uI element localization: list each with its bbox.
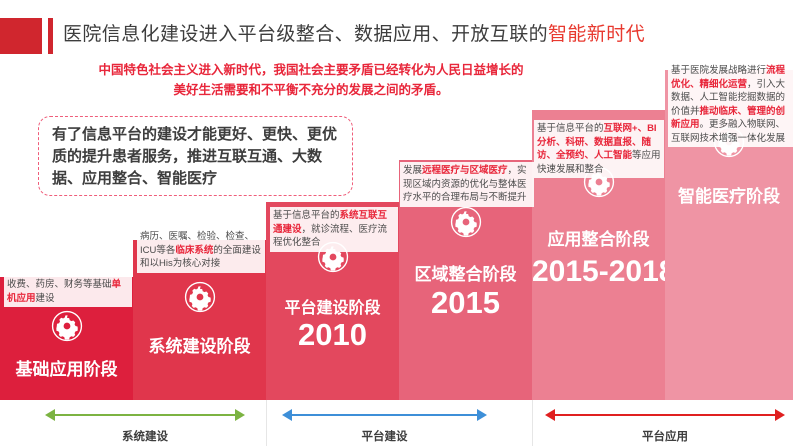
- stage-caption-3: 基于信息平台的系统互联互通建设，就诊流程、医疗流程优化整合: [270, 207, 398, 252]
- arrow-head-right: [235, 409, 245, 421]
- header-accent-block: [0, 18, 42, 54]
- gear-icon: [50, 309, 84, 348]
- stage-name-label: 平台建设阶段: [266, 294, 399, 318]
- arrow-line: [292, 414, 477, 416]
- arrow-head-right: [775, 409, 785, 421]
- header-accent-line: [48, 18, 53, 54]
- axis-arrow-1: 系统建设: [45, 408, 245, 422]
- gear-icon: [183, 280, 217, 319]
- axis-arrow-2: 平台建设: [282, 408, 487, 422]
- stage-year-label: 2015-2018: [532, 255, 665, 289]
- arrow-head-left: [45, 409, 55, 421]
- axis-arrow-3: 平台应用: [545, 408, 785, 422]
- stage-name-label: 区域整合阶段: [399, 260, 532, 285]
- subtitle-text: 中国特色社会主义进入新时代，我国社会主要矛盾已经转化为人民日益增长的美好生活需要…: [96, 60, 526, 100]
- stage-year-label: 2015: [399, 285, 532, 321]
- bottom-axis: 系统建设平台建设平台应用: [0, 400, 793, 446]
- stage-caption-4: 发展远程医疗与区域医疗，实现区域内资源的优化与整体医疗水平的合理布局与不断提升: [400, 162, 534, 207]
- axis-divider-2: [532, 400, 533, 446]
- page-title-accent: 智能新时代: [548, 24, 645, 45]
- page-title: 医院信息化建设进入平台级整合、数据应用、开放互联的智能新时代: [63, 19, 645, 46]
- stage-caption-2: 病历、医嘱、检验、检查、ICU等各临床系统的全面建设和以His为核心对接: [137, 228, 265, 273]
- stage-name-label: 应用整合阶段: [532, 225, 665, 250]
- slide-root: 医院信息化建设进入平台级整合、数据应用、开放互联的智能新时代 中国特色社会主义进…: [0, 0, 793, 446]
- stage-name-label: 智能医疗阶段: [665, 182, 793, 207]
- callout-box: 有了信息平台的建设才能更好、更快、更优质的提升患者服务，推进互联互通、大数据、应…: [38, 116, 353, 196]
- arrow-head-left: [545, 409, 555, 421]
- gear-icon: [449, 205, 483, 244]
- stage-caption-6: 基于医院发展战略进行流程优化、精细化运营，引入大数据、人工智能挖掘数据的价值并推…: [668, 62, 793, 147]
- arrow-line: [55, 414, 235, 416]
- arrow-head-right: [477, 409, 487, 421]
- arrow-line: [555, 414, 775, 416]
- stage-name-label: 基础应用阶段: [0, 355, 133, 380]
- axis-label: 平台建设: [282, 428, 487, 444]
- stage-name-label: 系统建设阶段: [133, 332, 266, 357]
- arrow-head-left: [282, 409, 292, 421]
- stage-caption-5: 基于信息平台的互联网+、BI分析、科研、数据直报、随访、全预约、人工智能等应用快…: [534, 120, 664, 178]
- axis-divider-1: [266, 400, 267, 446]
- stage-caption-1: 收费、药房、财务等基础单机应用建设: [4, 276, 132, 307]
- axis-label: 系统建设: [45, 428, 245, 444]
- axis-label: 平台应用: [545, 428, 785, 444]
- callout-text: 有了信息平台的建设才能更好、更快、更优质的提升患者服务，推进互联互通、大数据、应…: [52, 124, 344, 190]
- stage-year-label: 2010: [266, 317, 399, 353]
- page-title-main: 医院信息化建设进入平台级整合、数据应用、开放互联的: [63, 24, 548, 45]
